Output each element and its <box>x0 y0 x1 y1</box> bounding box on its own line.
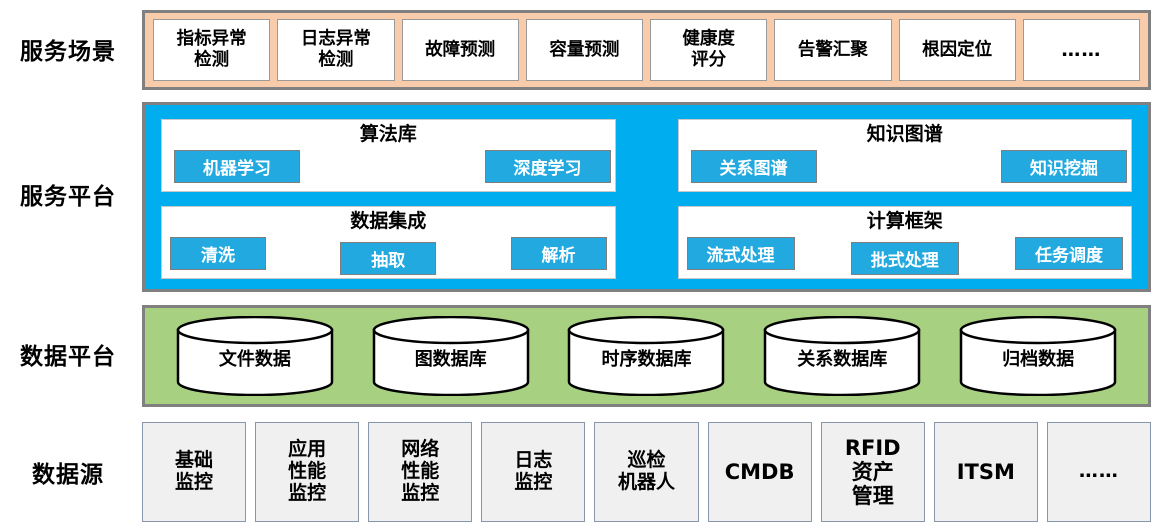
chip-stream-processing[interactable]: 流式处理 <box>687 237 795 270</box>
database-cylinder-file-data[interactable]: 文件数据 <box>175 316 335 396</box>
source-box-more-ellipsis[interactable]: …… <box>1047 422 1151 522</box>
scene-box-health-score[interactable]: 健康度 评分 <box>650 19 767 81</box>
platform-card-title: 算法库 <box>360 124 417 146</box>
scene-box-capacity-prediction[interactable]: 容量预测 <box>526 19 643 81</box>
platform-card-computing-framework[interactable]: 计算框架 流式处理 批式处理 任务调度 <box>678 206 1133 279</box>
chip-batch-processing[interactable]: 批式处理 <box>851 242 959 275</box>
chip-row: 关系图谱 知识挖掘 <box>677 150 1134 183</box>
chip-knowledge-mining[interactable]: 知识挖掘 <box>1001 150 1127 183</box>
scene-box-metric-anomaly[interactable]: 指标异常 检测 <box>153 19 270 81</box>
scene-box-alarm-aggregation[interactable]: 告警汇聚 <box>774 19 891 81</box>
cylinder-label: 关系数据库 <box>762 345 922 371</box>
source-box-rfid-asset-management[interactable]: RFID 资产 管理 <box>821 422 925 522</box>
rail-label-data-source: 数据源 <box>0 463 136 488</box>
scene-box-log-anomaly[interactable]: 日志异常 检测 <box>277 19 394 81</box>
source-box-network-performance-monitoring[interactable]: 网络 性能 监控 <box>368 422 472 522</box>
database-cylinder-relational-db[interactable]: 关系数据库 <box>762 316 922 396</box>
chip-extraction[interactable]: 抽取 <box>340 242 436 275</box>
service-platform-band: 算法库 机器学习 深度学习 知识图谱 关系图谱 知识挖掘 数据集成 清洗 抽取 … <box>142 102 1151 292</box>
database-cylinder-timeseries-db[interactable]: 时序数据库 <box>566 316 726 396</box>
scene-box-root-cause[interactable]: 根因定位 <box>899 19 1016 81</box>
source-box-log-monitoring[interactable]: 日志 监控 <box>481 422 585 522</box>
chip-cleaning[interactable]: 清洗 <box>170 237 266 270</box>
source-box-cmdb[interactable]: CMDB <box>708 422 812 522</box>
database-cylinder-graph-db[interactable]: 图数据库 <box>371 316 531 396</box>
chip-task-scheduling[interactable]: 任务调度 <box>1015 237 1123 270</box>
source-box-itsm[interactable]: ITSM <box>934 422 1038 522</box>
cylinder-label: 文件数据 <box>175 345 335 371</box>
scene-box-more-ellipsis[interactable]: …… <box>1023 19 1140 81</box>
data-platform-band: 文件数据 图数据库 时序数据库 关系数据库 <box>142 305 1151 407</box>
source-box-infrastructure-monitoring[interactable]: 基础 监控 <box>142 422 246 522</box>
platform-card-data-integration[interactable]: 数据集成 清洗 抽取 解析 <box>161 206 616 279</box>
rail-label-service-platform: 服务平台 <box>0 185 136 210</box>
source-box-application-performance-monitoring[interactable]: 应用 性能 监控 <box>255 422 359 522</box>
cylinder-label: 时序数据库 <box>566 345 726 371</box>
chip-row: 流式处理 批式处理 任务调度 <box>685 237 1126 270</box>
chip-relation-graph[interactable]: 关系图谱 <box>691 150 817 183</box>
rail-label-data-platform: 数据平台 <box>0 345 136 370</box>
source-box-inspection-robot[interactable]: 巡检 机器人 <box>594 422 698 522</box>
platform-card-knowledge-graph[interactable]: 知识图谱 关系图谱 知识挖掘 <box>678 119 1133 192</box>
rail-label-service-scene: 服务场景 <box>0 40 136 65</box>
architecture-diagram: 服务场景 服务平台 数据平台 数据源 指标异常 检测 日志异常 检测 故障预测 … <box>0 0 1159 530</box>
cylinder-label: 归档数据 <box>958 345 1118 371</box>
platform-card-algorithm-library[interactable]: 算法库 机器学习 深度学习 <box>161 119 616 192</box>
service-scene-band: 指标异常 检测 日志异常 检测 故障预测 容量预测 健康度 评分 告警汇聚 根因… <box>142 10 1151 90</box>
platform-card-title: 计算框架 <box>867 211 943 233</box>
chip-row: 清洗 抽取 解析 <box>168 237 609 270</box>
chip-machine-learning[interactable]: 机器学习 <box>174 150 300 183</box>
database-cylinder-archive-data[interactable]: 归档数据 <box>958 316 1118 396</box>
chip-deep-learning[interactable]: 深度学习 <box>485 150 611 183</box>
chip-row: 机器学习 深度学习 <box>160 150 617 183</box>
platform-card-title: 知识图谱 <box>867 124 943 146</box>
data-source-band: 基础 监控 应用 性能 监控 网络 性能 监控 日志 监控 巡检 机器人 CMD… <box>142 422 1151 522</box>
scene-box-fault-prediction[interactable]: 故障预测 <box>402 19 519 81</box>
cylinder-label: 图数据库 <box>371 345 531 371</box>
platform-card-title: 数据集成 <box>350 211 426 233</box>
chip-parsing[interactable]: 解析 <box>511 237 607 270</box>
